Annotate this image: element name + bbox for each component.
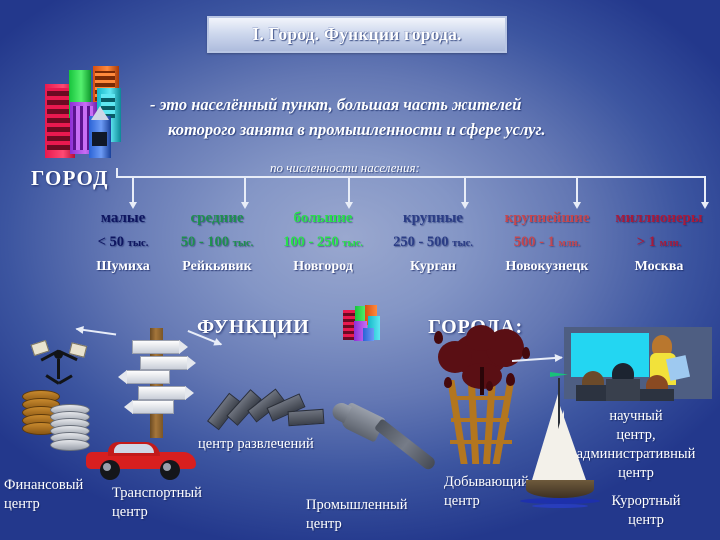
dominoes-icon bbox=[204, 388, 324, 434]
example-city: Новокузнецк bbox=[488, 259, 606, 275]
range-value: 250 - 500 bbox=[393, 234, 449, 250]
classification-column: крупнейшие 500 - 1 млн. Новокузнецк bbox=[488, 210, 606, 275]
function-label-transport: Транспортный центр bbox=[112, 484, 228, 522]
function-label-resort: Курортный центр bbox=[580, 492, 712, 530]
category-label: малые bbox=[80, 210, 166, 227]
classification-bracket bbox=[116, 176, 706, 212]
classification-column: средние 50 - 100 тыс. Рейкьявик bbox=[166, 210, 268, 275]
range-value: 50 - 100 bbox=[181, 234, 229, 250]
financial-label-line1: Финансовый bbox=[4, 476, 108, 495]
hammer-handle bbox=[374, 418, 437, 471]
bracket-arrow-1 bbox=[132, 176, 134, 202]
resort-label-line2: центр bbox=[580, 511, 712, 530]
bracket-arrow-5 bbox=[576, 176, 578, 202]
example-city: Курган bbox=[378, 259, 488, 275]
range-label: > 1 млн. bbox=[606, 234, 712, 251]
bracket-arrow-2 bbox=[244, 176, 246, 202]
city-skyline-icon bbox=[33, 58, 137, 170]
range-value: 100 - 250 bbox=[283, 234, 339, 250]
example-city: Рейкьявик bbox=[166, 259, 268, 275]
signpost-sign bbox=[132, 400, 174, 414]
category-label: средние bbox=[166, 210, 268, 227]
range-label: 250 - 500 тыс. bbox=[378, 234, 488, 251]
coins-icon bbox=[20, 390, 96, 452]
range-unit: тыс. bbox=[342, 238, 363, 249]
example-city: Новгород bbox=[268, 259, 378, 275]
classification-column: малые < 50 тыс. Шумиха bbox=[80, 210, 166, 275]
resort-label-line1: Курортный bbox=[580, 492, 712, 511]
classification-column: миллионеры > 1 млн. Москва bbox=[606, 210, 712, 275]
signpost-sign bbox=[132, 340, 180, 354]
range-value: < 50 bbox=[98, 234, 124, 250]
range-label: 500 - 1 млн. bbox=[488, 234, 606, 251]
classification-label: по численности населения: bbox=[270, 160, 420, 176]
signpost-icon bbox=[110, 328, 202, 438]
slide-title-banner: I. Город. Функции города. bbox=[207, 16, 507, 53]
range-label: 50 - 100 тыс. bbox=[166, 234, 268, 251]
bracket-arrow-6 bbox=[704, 176, 706, 202]
range-unit: тыс. bbox=[233, 238, 254, 249]
transport-label-line2: центр bbox=[112, 503, 228, 522]
projection-screen bbox=[571, 333, 649, 377]
definition-line-1: - это населённый пункт, большая часть жи… bbox=[150, 95, 521, 114]
functions-heading-left: ФУНКЦИИ bbox=[197, 316, 310, 339]
signpost-sign bbox=[138, 386, 186, 400]
signpost-sign bbox=[140, 356, 188, 370]
celebrating-figure-icon bbox=[30, 340, 90, 396]
page-title: I. Город. Функции города. bbox=[252, 24, 461, 45]
range-unit: тыс. bbox=[452, 238, 473, 249]
category-label: миллионеры bbox=[606, 210, 712, 227]
range-unit: млн. bbox=[660, 238, 682, 249]
bracket-arrow-3 bbox=[348, 176, 350, 202]
range-value: > 1 bbox=[637, 234, 656, 250]
domino-tile bbox=[288, 409, 325, 426]
range-label: 100 - 250 тыс. bbox=[268, 234, 378, 251]
classification-table: малые < 50 тыс. Шумиха средние 50 - 100 … bbox=[40, 210, 712, 300]
hammer-icon bbox=[319, 398, 449, 512]
range-unit: млн. bbox=[559, 238, 581, 249]
range-unit: тыс. bbox=[128, 238, 149, 249]
function-label-financial: Финансовый центр bbox=[4, 476, 108, 514]
range-value: 500 - 1 bbox=[514, 234, 555, 250]
city-skyline-mini-icon bbox=[339, 310, 399, 340]
slide-canvas: I. Город. Функции города. - это населённ… bbox=[0, 0, 720, 540]
bracket-stub bbox=[116, 168, 118, 178]
root-term-gorod: ГОРОД bbox=[31, 166, 109, 191]
example-city: Москва bbox=[606, 259, 712, 275]
category-label: большие bbox=[268, 210, 378, 227]
bracket-bar bbox=[116, 176, 706, 178]
signpost-sign bbox=[126, 370, 170, 384]
sports-car-icon bbox=[86, 438, 198, 478]
classification-column: крупные 250 - 500 тыс. Курган bbox=[378, 210, 488, 275]
transport-label-line1: Транспортный bbox=[112, 484, 228, 503]
financial-label-line2: центр bbox=[4, 495, 108, 514]
bracket-arrow-4 bbox=[464, 176, 466, 202]
range-label: < 50 тыс. bbox=[80, 234, 166, 251]
industrial-label-line2: центр bbox=[306, 515, 432, 534]
classification-column: большие 100 - 250 тыс. Новгород bbox=[268, 210, 378, 275]
category-label: крупные bbox=[378, 210, 488, 227]
definition-line-2: которого занята в промышленности и сфере… bbox=[150, 117, 698, 142]
function-label-industrial: Промышленный центр bbox=[306, 496, 432, 534]
category-label: крупнейшие bbox=[488, 210, 606, 227]
industrial-label-line1: Промышленный bbox=[306, 496, 432, 515]
city-definition: - это населённый пункт, большая часть жи… bbox=[150, 92, 698, 142]
example-city: Шумиха bbox=[80, 259, 166, 275]
